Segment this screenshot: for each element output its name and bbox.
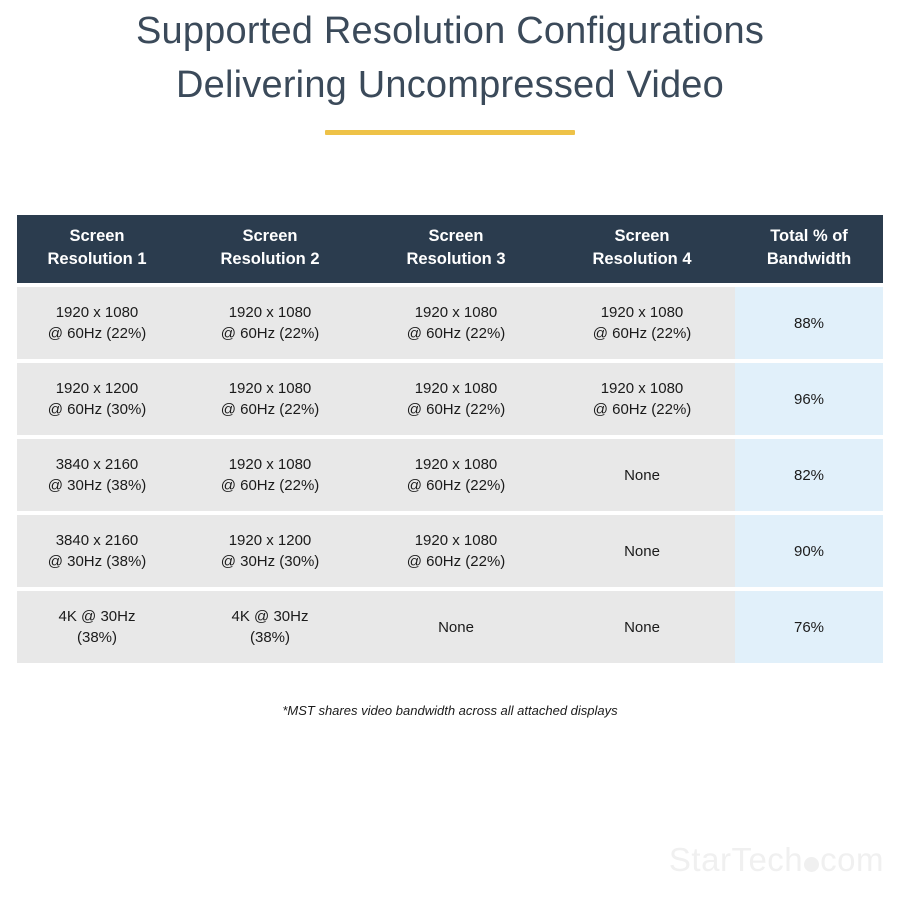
cell-line-1: 1920 x 1080	[367, 454, 545, 475]
cell-screen-resolution-4: 1920 x 1080 @ 60Hz (22%)	[549, 287, 735, 359]
title-accent-rule	[325, 130, 575, 135]
watermark-text-com: com	[820, 841, 884, 878]
column-header-total-percent-bandwidth: Total % of Bandwidth	[735, 215, 883, 283]
page-title-line-2: Delivering Uncompressed Video	[0, 58, 900, 112]
startech-watermark-logo: StarTechcom	[669, 843, 884, 876]
cell-screen-resolution-1: 4K @ 30Hz (38%)	[17, 591, 177, 663]
cell-screen-resolution-3: 1920 x 1080 @ 60Hz (22%)	[363, 439, 549, 511]
cell-screen-resolution-1: 1920 x 1080 @ 60Hz (22%)	[17, 287, 177, 359]
cell-line-2: @ 60Hz (22%)	[181, 399, 359, 420]
column-header-line-1: Screen	[21, 225, 173, 248]
cell-line-1: 1920 x 1080	[181, 302, 359, 323]
cell-line-1: None	[553, 465, 731, 486]
cell-line-2: @ 60Hz (22%)	[367, 323, 545, 344]
cell-screen-resolution-4: None	[549, 591, 735, 663]
cell-line-1: None	[367, 617, 545, 638]
cell-screen-resolution-2: 1920 x 1080 @ 60Hz (22%)	[177, 287, 363, 359]
column-header-line-2: Resolution 1	[21, 248, 173, 271]
column-header-line-1: Total % of	[739, 225, 879, 248]
column-header-screen-resolution-2: Screen Resolution 2	[177, 215, 363, 283]
cell-line-1: 1920 x 1200	[21, 378, 173, 399]
cell-screen-resolution-4: 1920 x 1080 @ 60Hz (22%)	[549, 363, 735, 435]
cell-screen-resolution-3: None	[363, 591, 549, 663]
cell-line-2: (38%)	[181, 627, 359, 648]
cell-total-bandwidth: 82%	[735, 439, 883, 511]
cell-line-1: 1920 x 1080	[367, 378, 545, 399]
cell-screen-resolution-1: 3840 x 2160 @ 30Hz (38%)	[17, 515, 177, 587]
cell-screen-resolution-4: None	[549, 439, 735, 511]
cell-line-1: None	[553, 541, 731, 562]
page-title: Supported Resolution Configurations Deli…	[0, 4, 900, 135]
cell-screen-resolution-2: 4K @ 30Hz (38%)	[177, 591, 363, 663]
cell-line-1: None	[553, 617, 731, 638]
column-header-line-2: Resolution 3	[367, 248, 545, 271]
column-header-screen-resolution-1: Screen Resolution 1	[17, 215, 177, 283]
cell-line-1: 1920 x 1080	[181, 454, 359, 475]
cell-line-2: @ 60Hz (22%)	[367, 399, 545, 420]
cell-screen-resolution-3: 1920 x 1080 @ 60Hz (22%)	[363, 363, 549, 435]
table-row: 4K @ 30Hz (38%) 4K @ 30Hz (38%) None Non…	[17, 591, 883, 663]
cell-total-bandwidth: 76%	[735, 591, 883, 663]
cell-screen-resolution-3: 1920 x 1080 @ 60Hz (22%)	[363, 515, 549, 587]
cell-line-1: 1920 x 1080	[181, 378, 359, 399]
cell-line-2: @ 60Hz (22%)	[181, 475, 359, 496]
table-row: 3840 x 2160 @ 30Hz (38%) 1920 x 1200 @ 3…	[17, 515, 883, 587]
column-header-line-1: Screen	[367, 225, 545, 248]
watermark-dot-icon	[804, 857, 819, 872]
table-row: 3840 x 2160 @ 30Hz (38%) 1920 x 1080 @ 6…	[17, 439, 883, 511]
cell-line-1: 1920 x 1080	[553, 378, 731, 399]
footnote: *MST shares video bandwidth across all a…	[0, 703, 900, 718]
cell-total-bandwidth: 90%	[735, 515, 883, 587]
cell-total-bandwidth: 96%	[735, 363, 883, 435]
cell-line-2: @ 60Hz (22%)	[367, 475, 545, 496]
column-header-line-2: Resolution 4	[553, 248, 731, 271]
cell-line-2: @ 60Hz (22%)	[181, 323, 359, 344]
cell-screen-resolution-3: 1920 x 1080 @ 60Hz (22%)	[363, 287, 549, 359]
cell-line-1: 4K @ 30Hz	[181, 606, 359, 627]
cell-line-1: 4K @ 30Hz	[21, 606, 173, 627]
cell-line-2: @ 60Hz (22%)	[367, 551, 545, 572]
table-header-row: Screen Resolution 1 Screen Resolution 2 …	[17, 215, 883, 283]
column-header-line-2: Bandwidth	[739, 248, 879, 271]
column-header-line-1: Screen	[553, 225, 731, 248]
column-header-line-2: Resolution 2	[181, 248, 359, 271]
resolution-table: Screen Resolution 1 Screen Resolution 2 …	[17, 211, 883, 667]
cell-line-2: @ 60Hz (22%)	[553, 399, 731, 420]
cell-screen-resolution-4: None	[549, 515, 735, 587]
cell-line-1: 3840 x 2160	[21, 530, 173, 551]
cell-line-1: 1920 x 1080	[553, 302, 731, 323]
cell-line-2: @ 60Hz (30%)	[21, 399, 173, 420]
table-header: Screen Resolution 1 Screen Resolution 2 …	[17, 215, 883, 283]
column-header-screen-resolution-3: Screen Resolution 3	[363, 215, 549, 283]
cell-screen-resolution-1: 3840 x 2160 @ 30Hz (38%)	[17, 439, 177, 511]
resolution-table-container: Screen Resolution 1 Screen Resolution 2 …	[17, 211, 883, 667]
cell-total-bandwidth: 88%	[735, 287, 883, 359]
cell-line-2: @ 30Hz (38%)	[21, 551, 173, 572]
cell-line-2: @ 60Hz (22%)	[553, 323, 731, 344]
cell-line-1: 1920 x 1080	[367, 302, 545, 323]
cell-screen-resolution-2: 1920 x 1200 @ 30Hz (30%)	[177, 515, 363, 587]
cell-line-1: 3840 x 2160	[21, 454, 173, 475]
watermark-text-startech: StarTech	[669, 841, 803, 878]
cell-line-1: 1920 x 1200	[181, 530, 359, 551]
cell-line-1: 1920 x 1080	[21, 302, 173, 323]
column-header-screen-resolution-4: Screen Resolution 4	[549, 215, 735, 283]
cell-line-2: @ 60Hz (22%)	[21, 323, 173, 344]
table-body: 1920 x 1080 @ 60Hz (22%) 1920 x 1080 @ 6…	[17, 287, 883, 663]
cell-line-2: (38%)	[21, 627, 173, 648]
column-header-line-1: Screen	[181, 225, 359, 248]
cell-line-2: @ 30Hz (38%)	[21, 475, 173, 496]
table-row: 1920 x 1080 @ 60Hz (22%) 1920 x 1080 @ 6…	[17, 287, 883, 359]
cell-screen-resolution-1: 1920 x 1200 @ 60Hz (30%)	[17, 363, 177, 435]
table-row: 1920 x 1200 @ 60Hz (30%) 1920 x 1080 @ 6…	[17, 363, 883, 435]
cell-line-2: @ 30Hz (30%)	[181, 551, 359, 572]
cell-line-1: 1920 x 1080	[367, 530, 545, 551]
page-title-line-1: Supported Resolution Configurations	[0, 4, 900, 58]
cell-screen-resolution-2: 1920 x 1080 @ 60Hz (22%)	[177, 363, 363, 435]
cell-screen-resolution-2: 1920 x 1080 @ 60Hz (22%)	[177, 439, 363, 511]
